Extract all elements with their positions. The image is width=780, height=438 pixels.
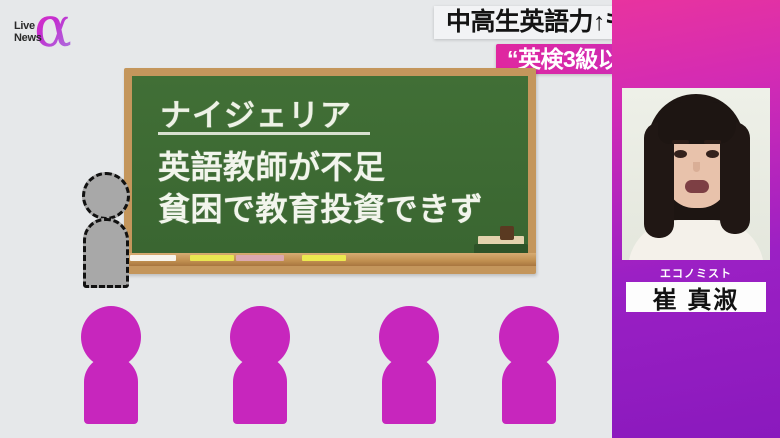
chalk-yellow-1	[190, 255, 234, 261]
guest-eye-right	[706, 150, 719, 158]
chalk-white	[130, 255, 176, 261]
guest-mouth	[685, 180, 709, 193]
blackboard-surface: ナイジェリア 英語教師が不足 貧困で教育投資できず	[132, 76, 528, 253]
person-figure-2	[221, 306, 299, 424]
guest-eye-left	[674, 150, 687, 158]
missing-teacher-placeholder-icon	[78, 172, 134, 290]
guest-name-plate: 崔 真淑	[626, 282, 766, 312]
logo-live-text: Live	[14, 20, 35, 32]
chalk-pink	[236, 255, 284, 261]
broadcast-screen: α Live News 中高生英語力↑も 地域差浮き彯り “英検3級以上”の中学…	[0, 0, 780, 438]
blackboard-line-2: 貧困で教育投資できず	[158, 184, 483, 230]
blackboard: ナイジェリア 英語教師が不足 貧困で教育投資できず	[124, 68, 536, 274]
blackboard-title-underline	[158, 132, 370, 135]
guest-nose	[693, 162, 700, 172]
person-figure-4-body	[502, 356, 556, 424]
alpha-symbol: α	[34, 0, 72, 56]
person-figure-1-body	[84, 356, 138, 424]
person-figure-3-body	[382, 356, 436, 424]
guest-role-text: エコノミスト	[660, 265, 732, 281]
blackboard-title: ナイジェリア	[160, 90, 352, 135]
person-figure-2-body	[233, 356, 287, 424]
person-figure-3	[370, 306, 448, 424]
person-figure-1	[72, 306, 150, 424]
live-news-alpha-logo: α Live News	[12, 4, 90, 60]
blackboard-line-1: 英語教師が不足	[158, 142, 386, 188]
guest-eyebrow-right	[704, 140, 721, 144]
headline-text-black: 中高生英語力↑も	[446, 10, 630, 35]
ghost-head	[82, 172, 130, 220]
guest-hair-bangs	[658, 102, 736, 144]
chalk-yellow-2	[302, 255, 346, 261]
guest-panel: エコノミスト 崔 真淑	[612, 0, 780, 438]
person-figure-4	[490, 306, 568, 424]
logo-news-text: News	[14, 32, 42, 44]
guest-role-label: エコノミスト	[622, 264, 770, 281]
guest-name-text: 崔 真淑	[653, 280, 740, 315]
guest-photo	[622, 88, 770, 260]
chalk-eraser-knob	[500, 226, 514, 240]
guest-eyebrow-left	[672, 140, 689, 144]
ghost-body	[83, 218, 129, 288]
